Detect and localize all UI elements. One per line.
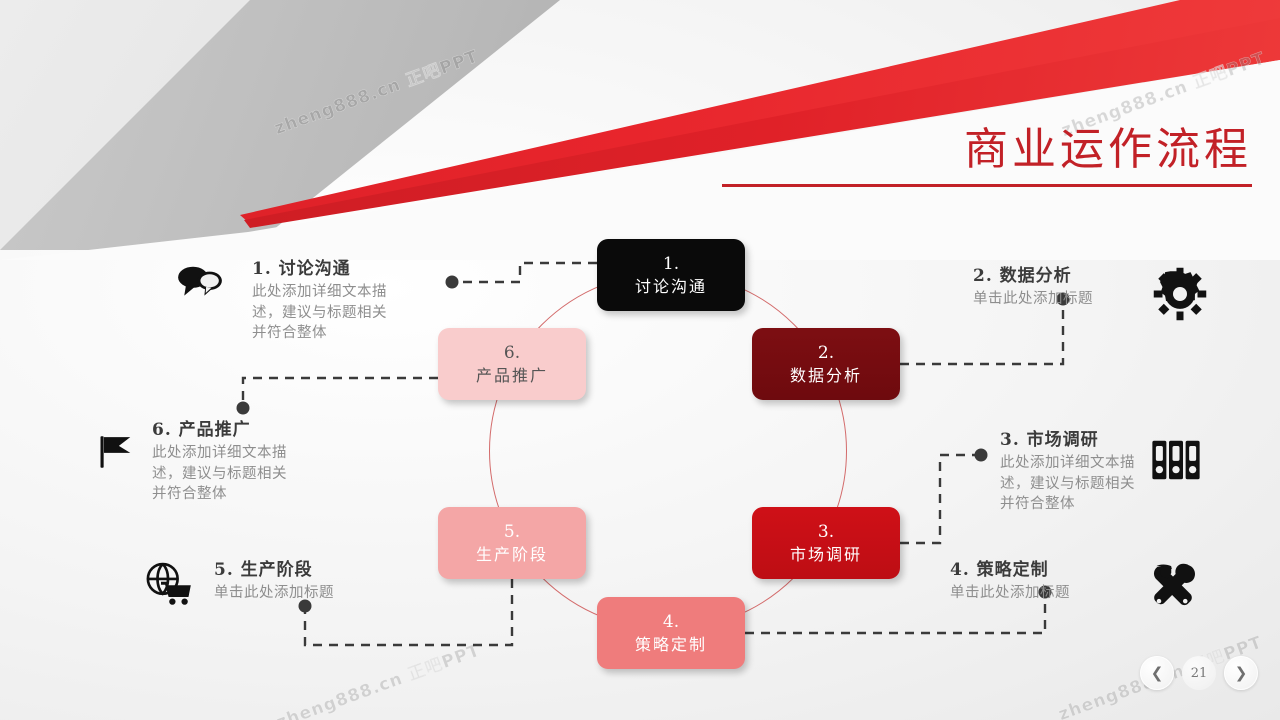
tools-icon (1145, 560, 1201, 616)
cycle-node-1[interactable]: 1. 讨论沟通 (597, 239, 745, 311)
cycle-node-4[interactable]: 4. 策略定制 (597, 597, 745, 669)
node-number: 6. (504, 345, 520, 362)
next-slide-button[interactable]: ❯ (1224, 656, 1258, 690)
label-heading: 2. 数据分析 (973, 266, 1093, 287)
node-name: 讨论沟通 (635, 279, 707, 295)
node-name: 生产阶段 (476, 547, 548, 563)
label-block-4: 4. 策略定制 单击此处添加标题 (950, 560, 1070, 604)
speech-bubbles-icon (172, 258, 228, 314)
label-body: 此处添加详细文本描 述，建议与标题相关 并符合整体 (152, 443, 287, 505)
node-name: 市场调研 (790, 547, 862, 563)
gear-icon (1152, 266, 1208, 322)
label-block-5: 5. 生产阶段 单击此处添加标题 (214, 560, 334, 604)
node-number: 1. (663, 256, 679, 273)
label-heading: 6. 产品推广 (152, 420, 287, 441)
label-heading: 3. 市场调研 (1000, 430, 1135, 451)
cycle-node-3[interactable]: 3. 市场调研 (752, 507, 900, 579)
slide-navigation[interactable]: ❮ 21 ❯ (1140, 656, 1258, 690)
label-body: 此处添加详细文本描 述，建议与标题相关 并符合整体 (252, 282, 387, 344)
page-number: 21 (1182, 656, 1216, 690)
label-block-3: 3. 市场调研 此处添加详细文本描 述，建议与标题相关 并符合整体 (1000, 430, 1135, 515)
node-number: 3. (818, 524, 834, 541)
label-body: 单击此处添加标题 (973, 289, 1093, 310)
node-name: 数据分析 (790, 368, 862, 384)
label-heading: 4. 策略定制 (950, 560, 1070, 581)
label-heading: 1. 讨论沟通 (252, 259, 387, 280)
globe-cart-icon (140, 557, 196, 613)
binders-icon (1148, 432, 1204, 488)
label-body: 此处添加详细文本描 述，建议与标题相关 并符合整体 (1000, 453, 1135, 515)
label-block-6: 6. 产品推广 此处添加详细文本描 述，建议与标题相关 并符合整体 (152, 420, 287, 505)
flag-icon (90, 424, 146, 480)
node-name: 策略定制 (635, 637, 707, 653)
label-heading: 5. 生产阶段 (214, 560, 334, 581)
node-name: 产品推广 (476, 368, 548, 384)
label-body: 单击此处添加标题 (214, 583, 334, 604)
label-block-2: 2. 数据分析 单击此处添加标题 (973, 266, 1093, 310)
cycle-node-2[interactable]: 2. 数据分析 (752, 328, 900, 400)
node-number: 4. (663, 614, 679, 631)
cycle-node-6[interactable]: 6. 产品推广 (438, 328, 586, 400)
node-number: 2. (818, 345, 834, 362)
label-block-1: 1. 讨论沟通 此处添加详细文本描 述，建议与标题相关 并符合整体 (252, 259, 387, 344)
label-body: 单击此处添加标题 (950, 583, 1070, 604)
cycle-node-5[interactable]: 5. 生产阶段 (438, 507, 586, 579)
node-number: 5. (504, 524, 520, 541)
slide-canvas: zheng888.cn 正吧PPT zheng888.cn 正吧PPT zhen… (0, 0, 1280, 720)
prev-slide-button[interactable]: ❮ (1140, 656, 1174, 690)
